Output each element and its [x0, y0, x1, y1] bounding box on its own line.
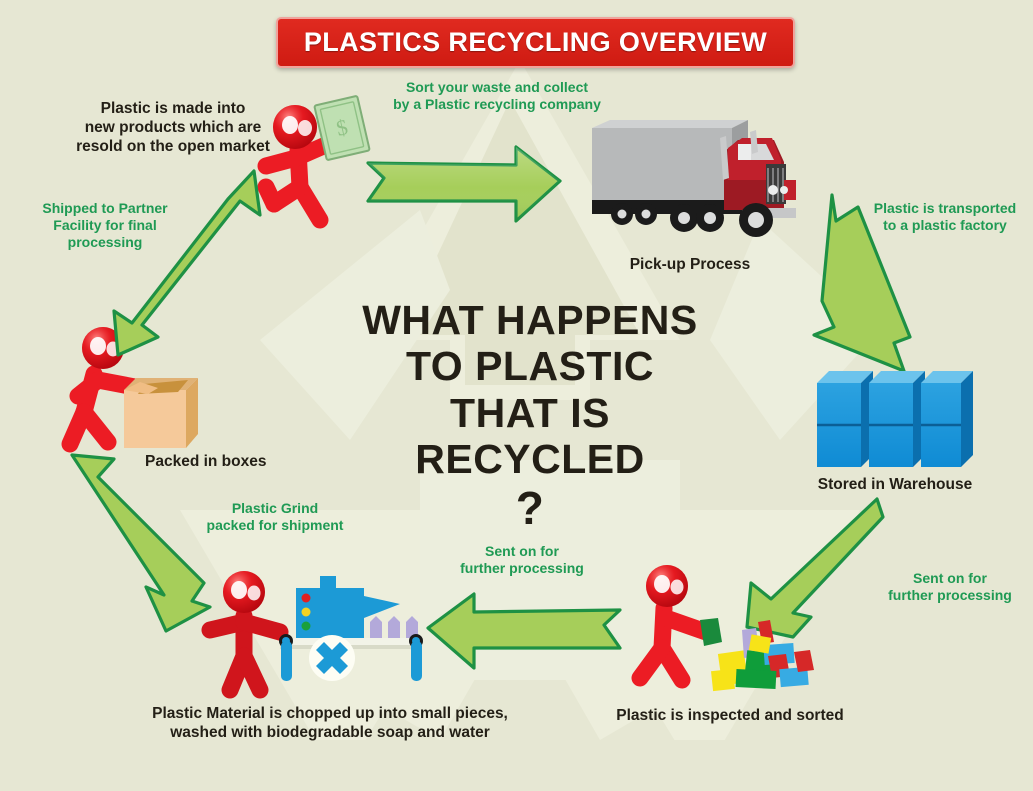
caption-packed-in-boxes: Packed in boxes: [145, 453, 345, 472]
center-heading: WHAT HAPPENS TO PLASTIC THAT IS RECYCLED…: [330, 297, 730, 533]
caption-sort-and-collect: Sort your waste and collect by a Plastic…: [372, 79, 622, 113]
caption-chopped-washed: Plastic Material is chopped up into smal…: [120, 705, 540, 743]
center-heading-line-2: TO PLASTIC: [330, 343, 730, 389]
arrow-right-top: [366, 145, 562, 223]
caption-pick-up-process: Pick-up Process: [570, 256, 810, 275]
center-heading-question-mark: ?: [330, 484, 730, 532]
page-title: PLASTICS RECYCLING OVERVIEW: [304, 27, 767, 58]
caption-sent-on-center: Sent on for further processing: [442, 543, 602, 577]
stacked-blue-boxes-icon: [815, 363, 975, 473]
conveyor-shredder-machine-icon: [274, 570, 426, 682]
center-heading-line-1: WHAT HAPPENS: [330, 297, 730, 343]
arrow-up-right-left-top: [112, 165, 262, 360]
caption-stored-in-warehouse: Stored in Warehouse: [790, 476, 1000, 495]
arrow-down-right-top: [792, 185, 912, 375]
caption-sent-on-right: Sent on for further processing: [870, 570, 1030, 604]
figure-with-money: $: [250, 92, 365, 232]
page-title-banner: PLASTICS RECYCLING OVERVIEW: [276, 17, 795, 68]
semi-truck-icon: [588, 118, 798, 246]
infographic-poster: PLASTICS RECYCLING OVERVIEW Plastic is m…: [0, 0, 1033, 791]
arrow-left-bottom: [424, 592, 624, 670]
sorted-plastic-pile-icon: [706, 608, 826, 696]
cardboard-box-icon: [118, 368, 202, 452]
caption-inspected-and-sorted: Plastic is inspected and sorted: [600, 707, 860, 726]
center-heading-line-3: THAT IS RECYCLED: [330, 390, 730, 483]
arrow-up-left-bottom: [62, 445, 212, 635]
